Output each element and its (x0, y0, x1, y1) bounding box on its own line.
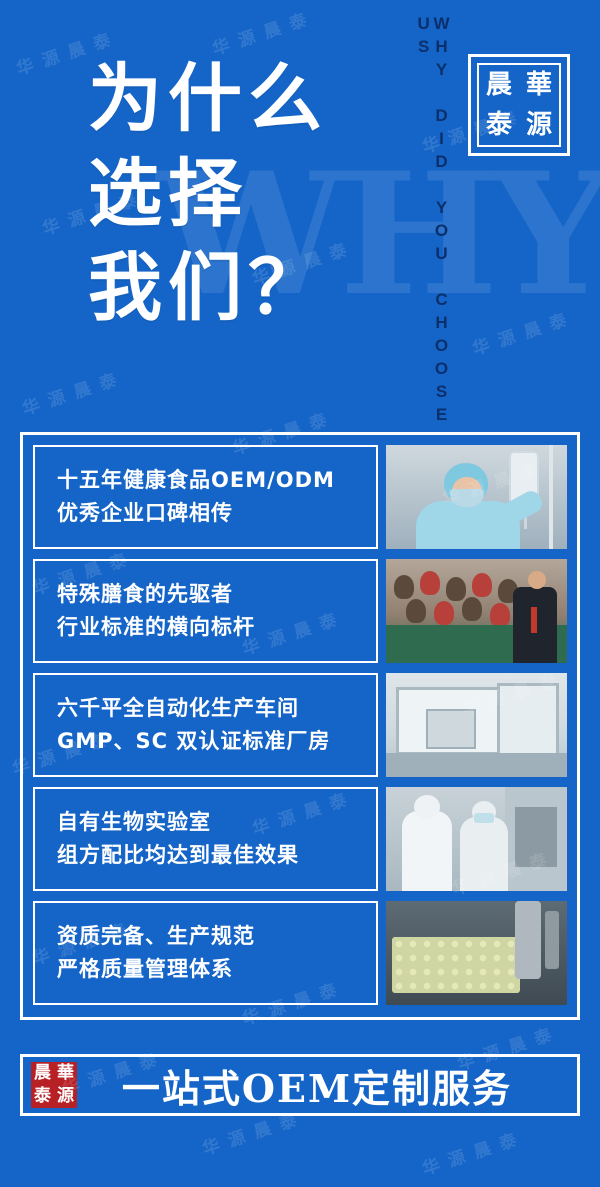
feature-row: 资质完备、生产规范 严格质量管理体系 (33, 901, 567, 1005)
feature-line: 资质完备、生产规范 (57, 920, 376, 953)
brand-seal-logo: 華 晨 源 泰 (468, 54, 570, 156)
seal-char-4: 泰 (486, 112, 512, 138)
feature-line: 六千平全自动化生产车间 (57, 692, 376, 725)
footer-slogan: 一站式OEM定制服务 (77, 1058, 577, 1113)
page-title-line-3: 我们？ (88, 241, 328, 336)
feature-text-workshop: 六千平全自动化生产车间 GMP、SC 双认证标准厂房 (33, 673, 378, 777)
tablet-press-photo (386, 901, 567, 1005)
footer-seal-char-4: 泰 (34, 1088, 51, 1105)
feature-row: 六千平全自动化生产车间 GMP、SC 双认证标准厂房 (33, 673, 567, 777)
feature-line: 优秀企业口碑相传 (57, 497, 376, 530)
footer-banner: 華 晨 源 泰 一站式OEM定制服务 (20, 1054, 580, 1116)
feature-row: 十五年健康食品OEM/ODM 优秀企业口碑相传 (33, 445, 567, 549)
footer-seal-logo: 華 晨 源 泰 (31, 1062, 77, 1108)
conference-audience-photo (386, 559, 567, 663)
feature-line: GMP、SC 双认证标准厂房 (57, 725, 376, 758)
page-title-line-1: 为什么 (88, 52, 328, 147)
feature-list-panel: 十五年健康食品OEM/ODM 优秀企业口碑相传 特殊膳食的先驱者 行业标准的横向… (20, 432, 580, 1020)
footer-seal-char-1: 華 (57, 1065, 74, 1082)
seal-char-3: 源 (526, 112, 552, 138)
lab-technicians-photo (386, 787, 567, 891)
feature-text-laboratory: 自有生物实验室 组方配比均达到最佳效果 (33, 787, 378, 891)
feature-line: 自有生物实验室 (57, 806, 376, 839)
feature-line: 十五年健康食品OEM/ODM (57, 464, 376, 497)
seal-char-2: 晨 (486, 72, 512, 98)
feature-row: 特殊膳食的先驱者 行业标准的横向标杆 (33, 559, 567, 663)
header-section: 为什么 选择 我们？ WHY DID YOU CHOOSE US 華 晨 源 泰 (0, 0, 600, 430)
footer-seal-char-2: 晨 (34, 1065, 51, 1082)
vertical-english-caption: WHY DID YOU CHOOSE US (420, 14, 450, 430)
feature-line: 特殊膳食的先驱者 (57, 578, 376, 611)
footer-seal-char-3: 源 (57, 1088, 74, 1105)
feature-line: 严格质量管理体系 (57, 953, 376, 986)
lab-worker-iv-bag-photo (386, 445, 567, 549)
feature-line: 组方配比均达到最佳效果 (57, 839, 376, 872)
feature-text-oem-odm: 十五年健康食品OEM/ODM 优秀企业口碑相传 (33, 445, 378, 549)
feature-line: 行业标准的横向标杆 (57, 611, 376, 644)
clean-workshop-photo (386, 673, 567, 777)
page-title: 为什么 选择 我们？ (88, 52, 328, 336)
watermark-text: 华 源 晨 泰 (419, 1125, 522, 1180)
seal-char-1: 華 (526, 72, 552, 98)
feature-text-quality: 资质完备、生产规范 严格质量管理体系 (33, 901, 378, 1005)
feature-text-special-diet: 特殊膳食的先驱者 行业标准的横向标杆 (33, 559, 378, 663)
feature-row: 自有生物实验室 组方配比均达到最佳效果 (33, 787, 567, 891)
page-title-line-2: 选择 (88, 147, 328, 242)
